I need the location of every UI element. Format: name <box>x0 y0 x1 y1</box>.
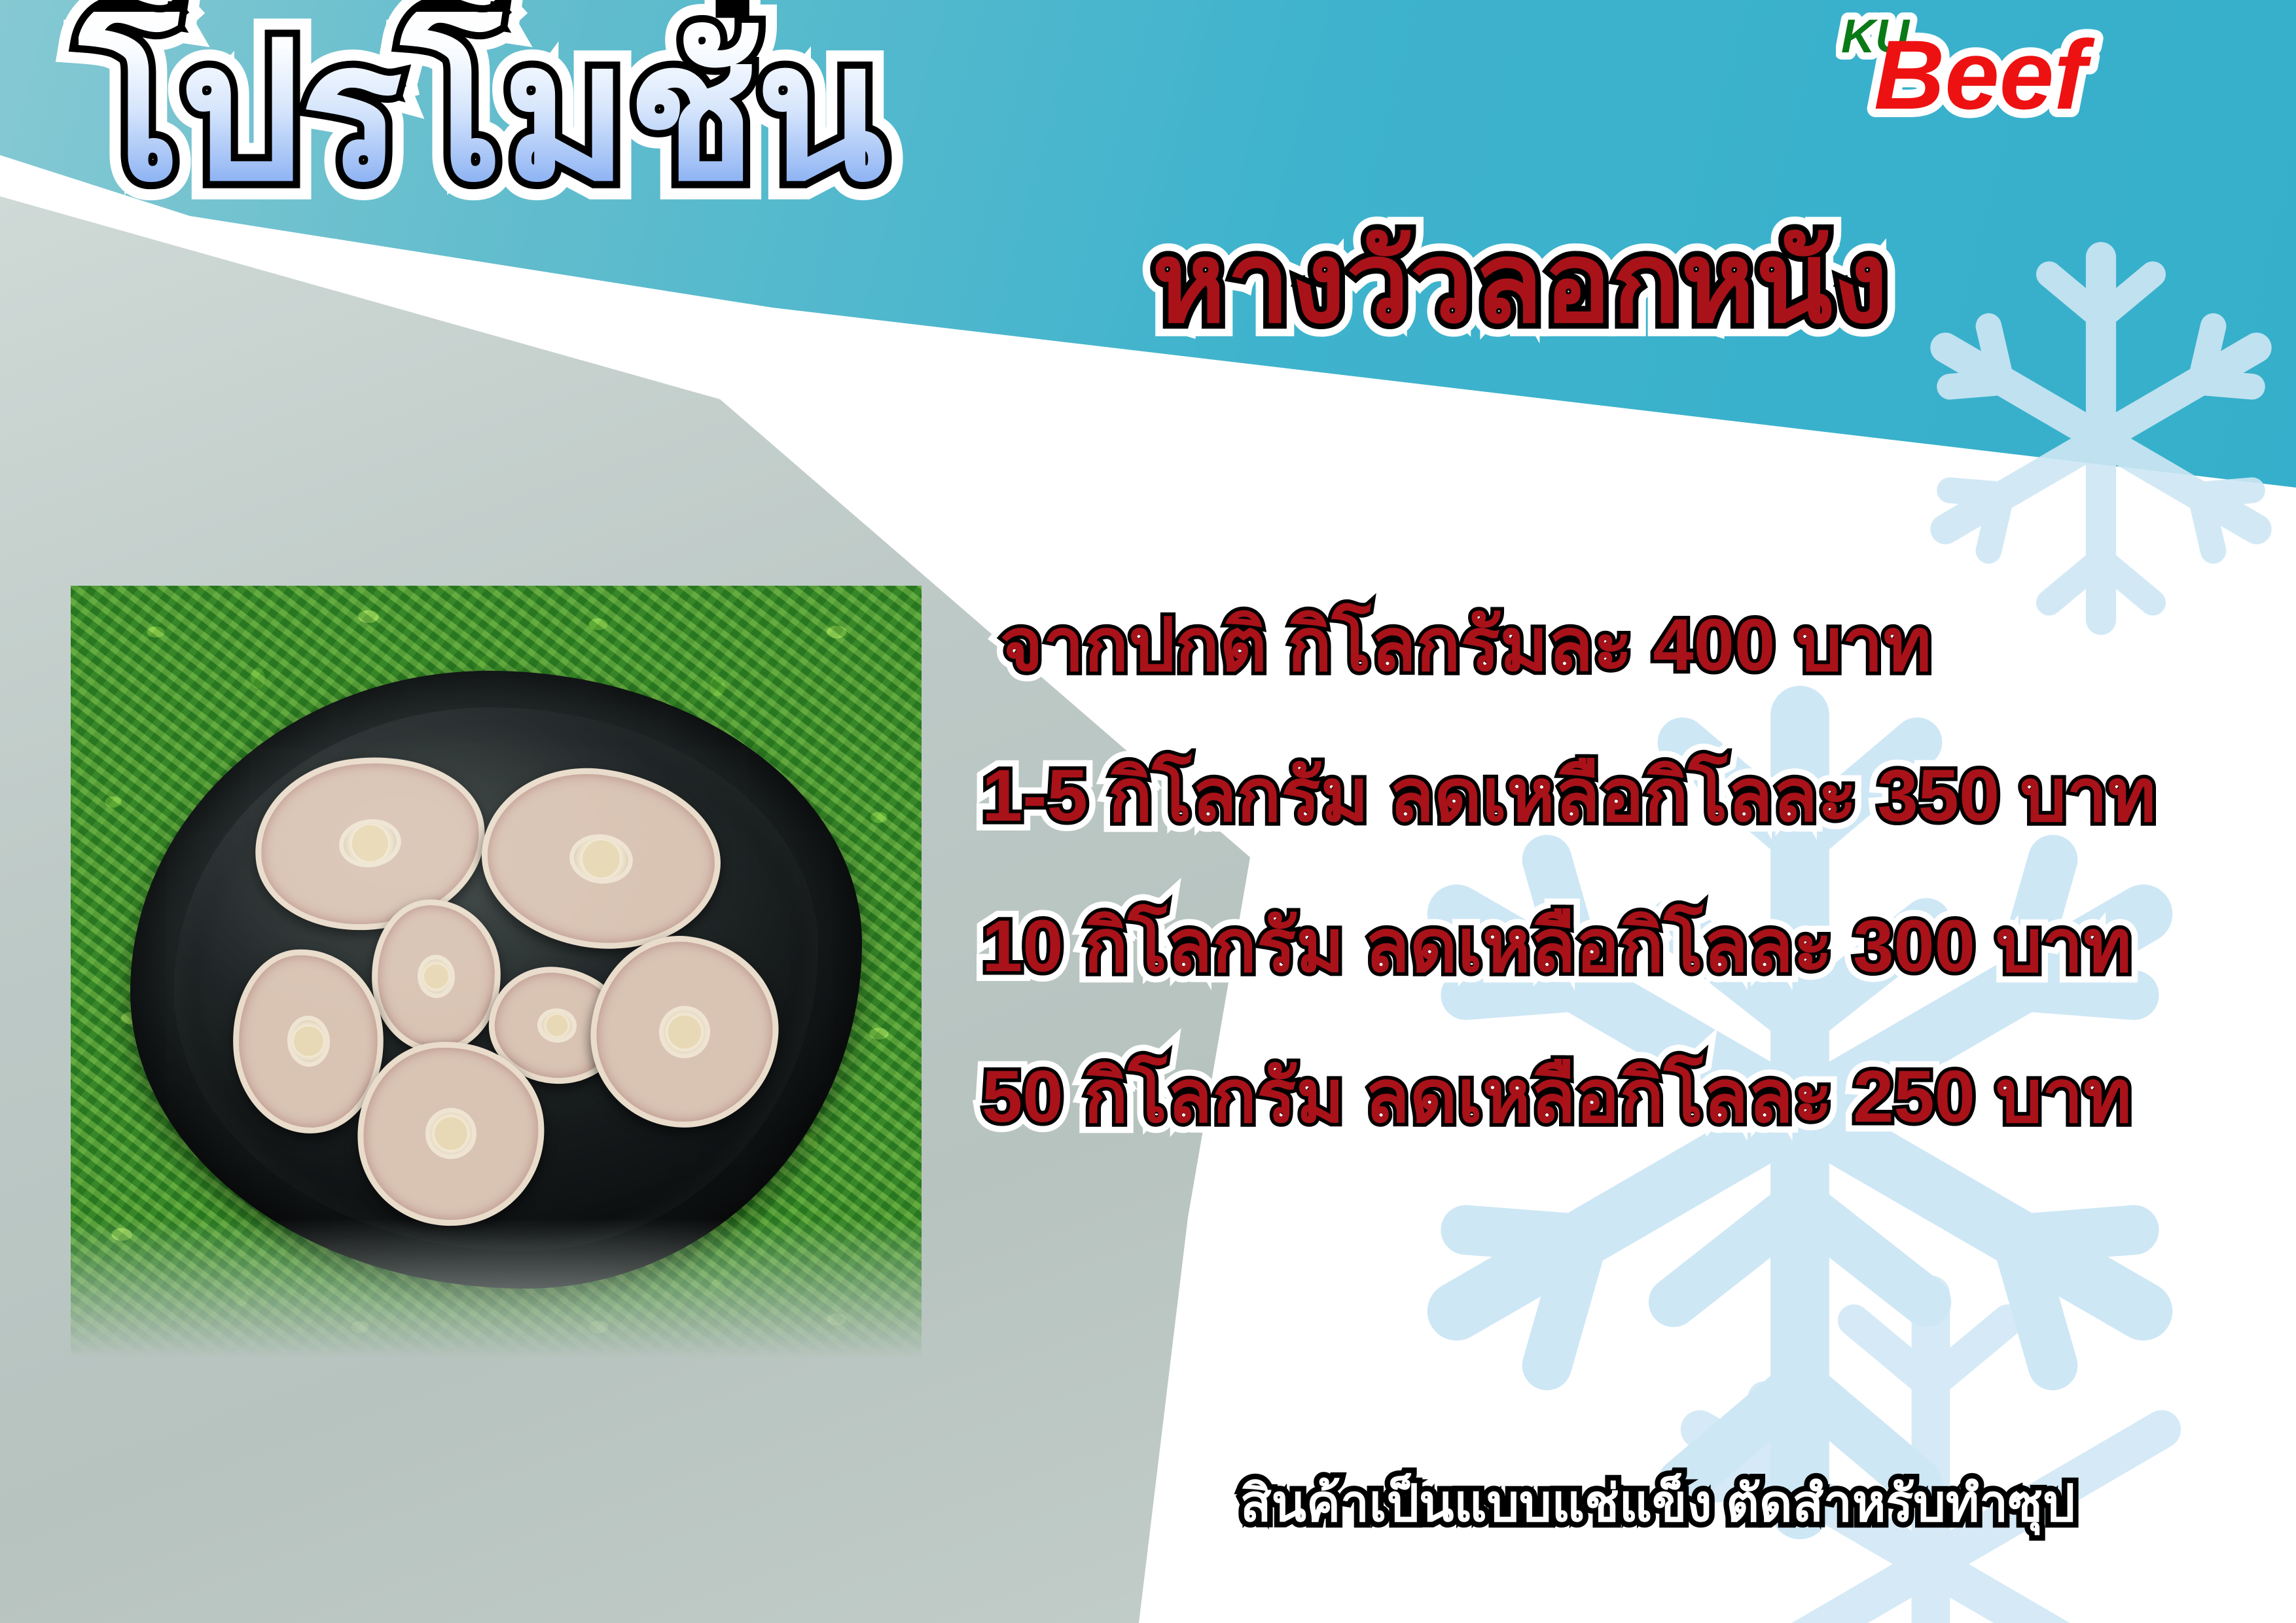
oxtail-piece <box>226 944 390 1139</box>
plate <box>130 671 862 1289</box>
oxtail-piece <box>348 1032 554 1236</box>
brand-logo: KU Beef KU Beef <box>1836 5 2287 126</box>
price-row: 10 กิโลกรัม ลดเหลือกิโลละ 300 บาท 10 กิโ… <box>982 910 2278 1060</box>
price-text: 10 กิโลกรัม ลดเหลือกิโลละ 300 บาท <box>982 910 2132 983</box>
svg-text:Beef: Beef <box>1874 20 2095 126</box>
promotion-poster: โปรโมชั่น โปรโมชั่น โปรโมชั่น หางวัวลอกห… <box>0 0 2296 1623</box>
oxtail-piece <box>471 756 730 962</box>
price-row: 50 กิโลกรัม ลดเหลือกิโลละ 250 บาท 50 กิโ… <box>982 1060 2278 1211</box>
price-text: จากปกติ กิโลกรัมละ 400 บาท <box>1000 609 1931 682</box>
oxtail-piece <box>484 961 630 1090</box>
oxtail-piece <box>243 742 497 945</box>
oxtail-piece <box>582 927 788 1137</box>
price-text: 1-5 กิโลกรัม ลดเหลือกิโลละ 350 บาท <box>982 759 2156 832</box>
page-title-fill: โปรโมชั่น <box>79 12 885 213</box>
product-name-fill: หางวัวลอกหนัง <box>1152 221 1889 345</box>
price-list: จากปกติ กิโลกรัมละ 400 บาท จากปกติ กิโลก… <box>982 609 2278 1211</box>
product-photo <box>71 586 922 1358</box>
price-text: 50 กิโลกรัม ลดเหลือกิโลละ 250 บาท <box>982 1060 2132 1133</box>
oxtail-piece <box>368 896 505 1056</box>
price-row: จากปกติ กิโลกรัมละ 400 บาท จากปกติ กิโลก… <box>982 609 2278 759</box>
footer-note-text: สินค้าเป็นแบบแช่แข็ง ตัดสำหรับทำซุป <box>1240 1478 2075 1529</box>
price-row: 1-5 กิโลกรัม ลดเหลือกิโลละ 350 บาท 1-5 ก… <box>982 759 2278 910</box>
